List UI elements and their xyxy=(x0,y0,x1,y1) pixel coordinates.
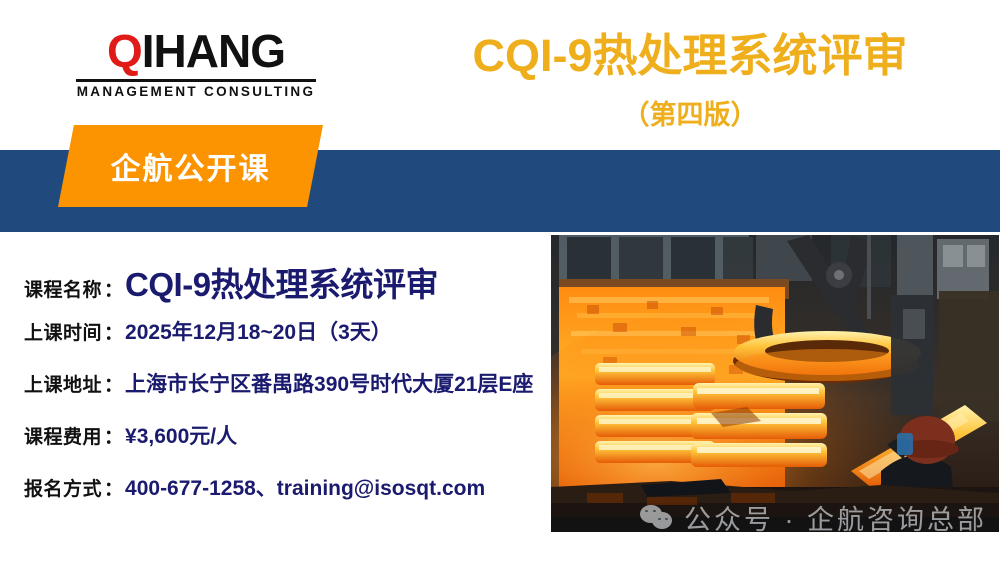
heat-treatment-photo xyxy=(551,235,999,532)
info-value-course-date: 2025年12月18~20日（3天） xyxy=(125,316,392,346)
heat-treatment-illustration xyxy=(551,235,999,532)
info-value-registration: 400-677-1258、training@isosqt.com xyxy=(125,472,485,502)
info-row-course-date: 上课时间 ： 2025年12月18~20日（3天） xyxy=(24,316,544,368)
info-label-course-date: 上课时间 xyxy=(24,318,102,345)
info-colon-registration: ： xyxy=(102,474,125,501)
page-title: CQI-9热处理系统评审 xyxy=(400,29,980,83)
logo-wordmark: QIHANG xyxy=(76,26,316,76)
logo-letter-q: Q xyxy=(107,25,142,77)
logo-subtitle: MANAGEMENT CONSULTING xyxy=(76,84,316,99)
course-info-list: 课程名称 ： CQI-9热处理系统评审 上课时间 ： 2025年12月18~20… xyxy=(24,258,544,524)
info-label-course-name: 课程名称 xyxy=(24,275,102,302)
info-row-registration: 报名方式 ： 400-677-1258、training@isosqt.com xyxy=(24,472,544,524)
info-value-course-fee: ¥3,600元/人 xyxy=(125,420,237,450)
info-colon-course-address: ： xyxy=(102,370,125,397)
info-label-course-fee: 课程费用 xyxy=(24,422,102,449)
logo-divider xyxy=(76,79,316,82)
poster-root: QIHANG MANAGEMENT CONSULTING CQI-9热处理系统评… xyxy=(0,0,1000,562)
brand-logo: QIHANG MANAGEMENT CONSULTING xyxy=(76,26,316,99)
info-value-course-address: 上海市长宁区番禺路390号时代大厦21层E座 xyxy=(125,368,533,398)
logo-letters-rest: IHANG xyxy=(142,25,285,77)
open-course-tab: 企航公开课 xyxy=(58,125,323,207)
info-colon-course-name: ： xyxy=(102,275,125,302)
info-row-course-fee: 课程费用 ： ¥3,600元/人 xyxy=(24,420,544,472)
info-label-registration: 报名方式 xyxy=(24,474,102,501)
info-row-course-name: 课程名称 ： CQI-9热处理系统评审 xyxy=(24,258,544,316)
info-row-course-address: 上课地址 ： 上海市长宁区番禺路390号时代大厦21层E座 xyxy=(24,368,544,420)
info-label-course-address: 上课地址 xyxy=(24,370,102,397)
page-subtitle: （第四版） xyxy=(400,98,980,132)
open-course-tab-label: 企航公开课 xyxy=(111,144,271,188)
info-colon-course-fee: ： xyxy=(102,422,125,449)
info-colon-course-date: ： xyxy=(102,318,125,345)
info-value-course-name: CQI-9热处理系统评审 xyxy=(125,258,438,306)
